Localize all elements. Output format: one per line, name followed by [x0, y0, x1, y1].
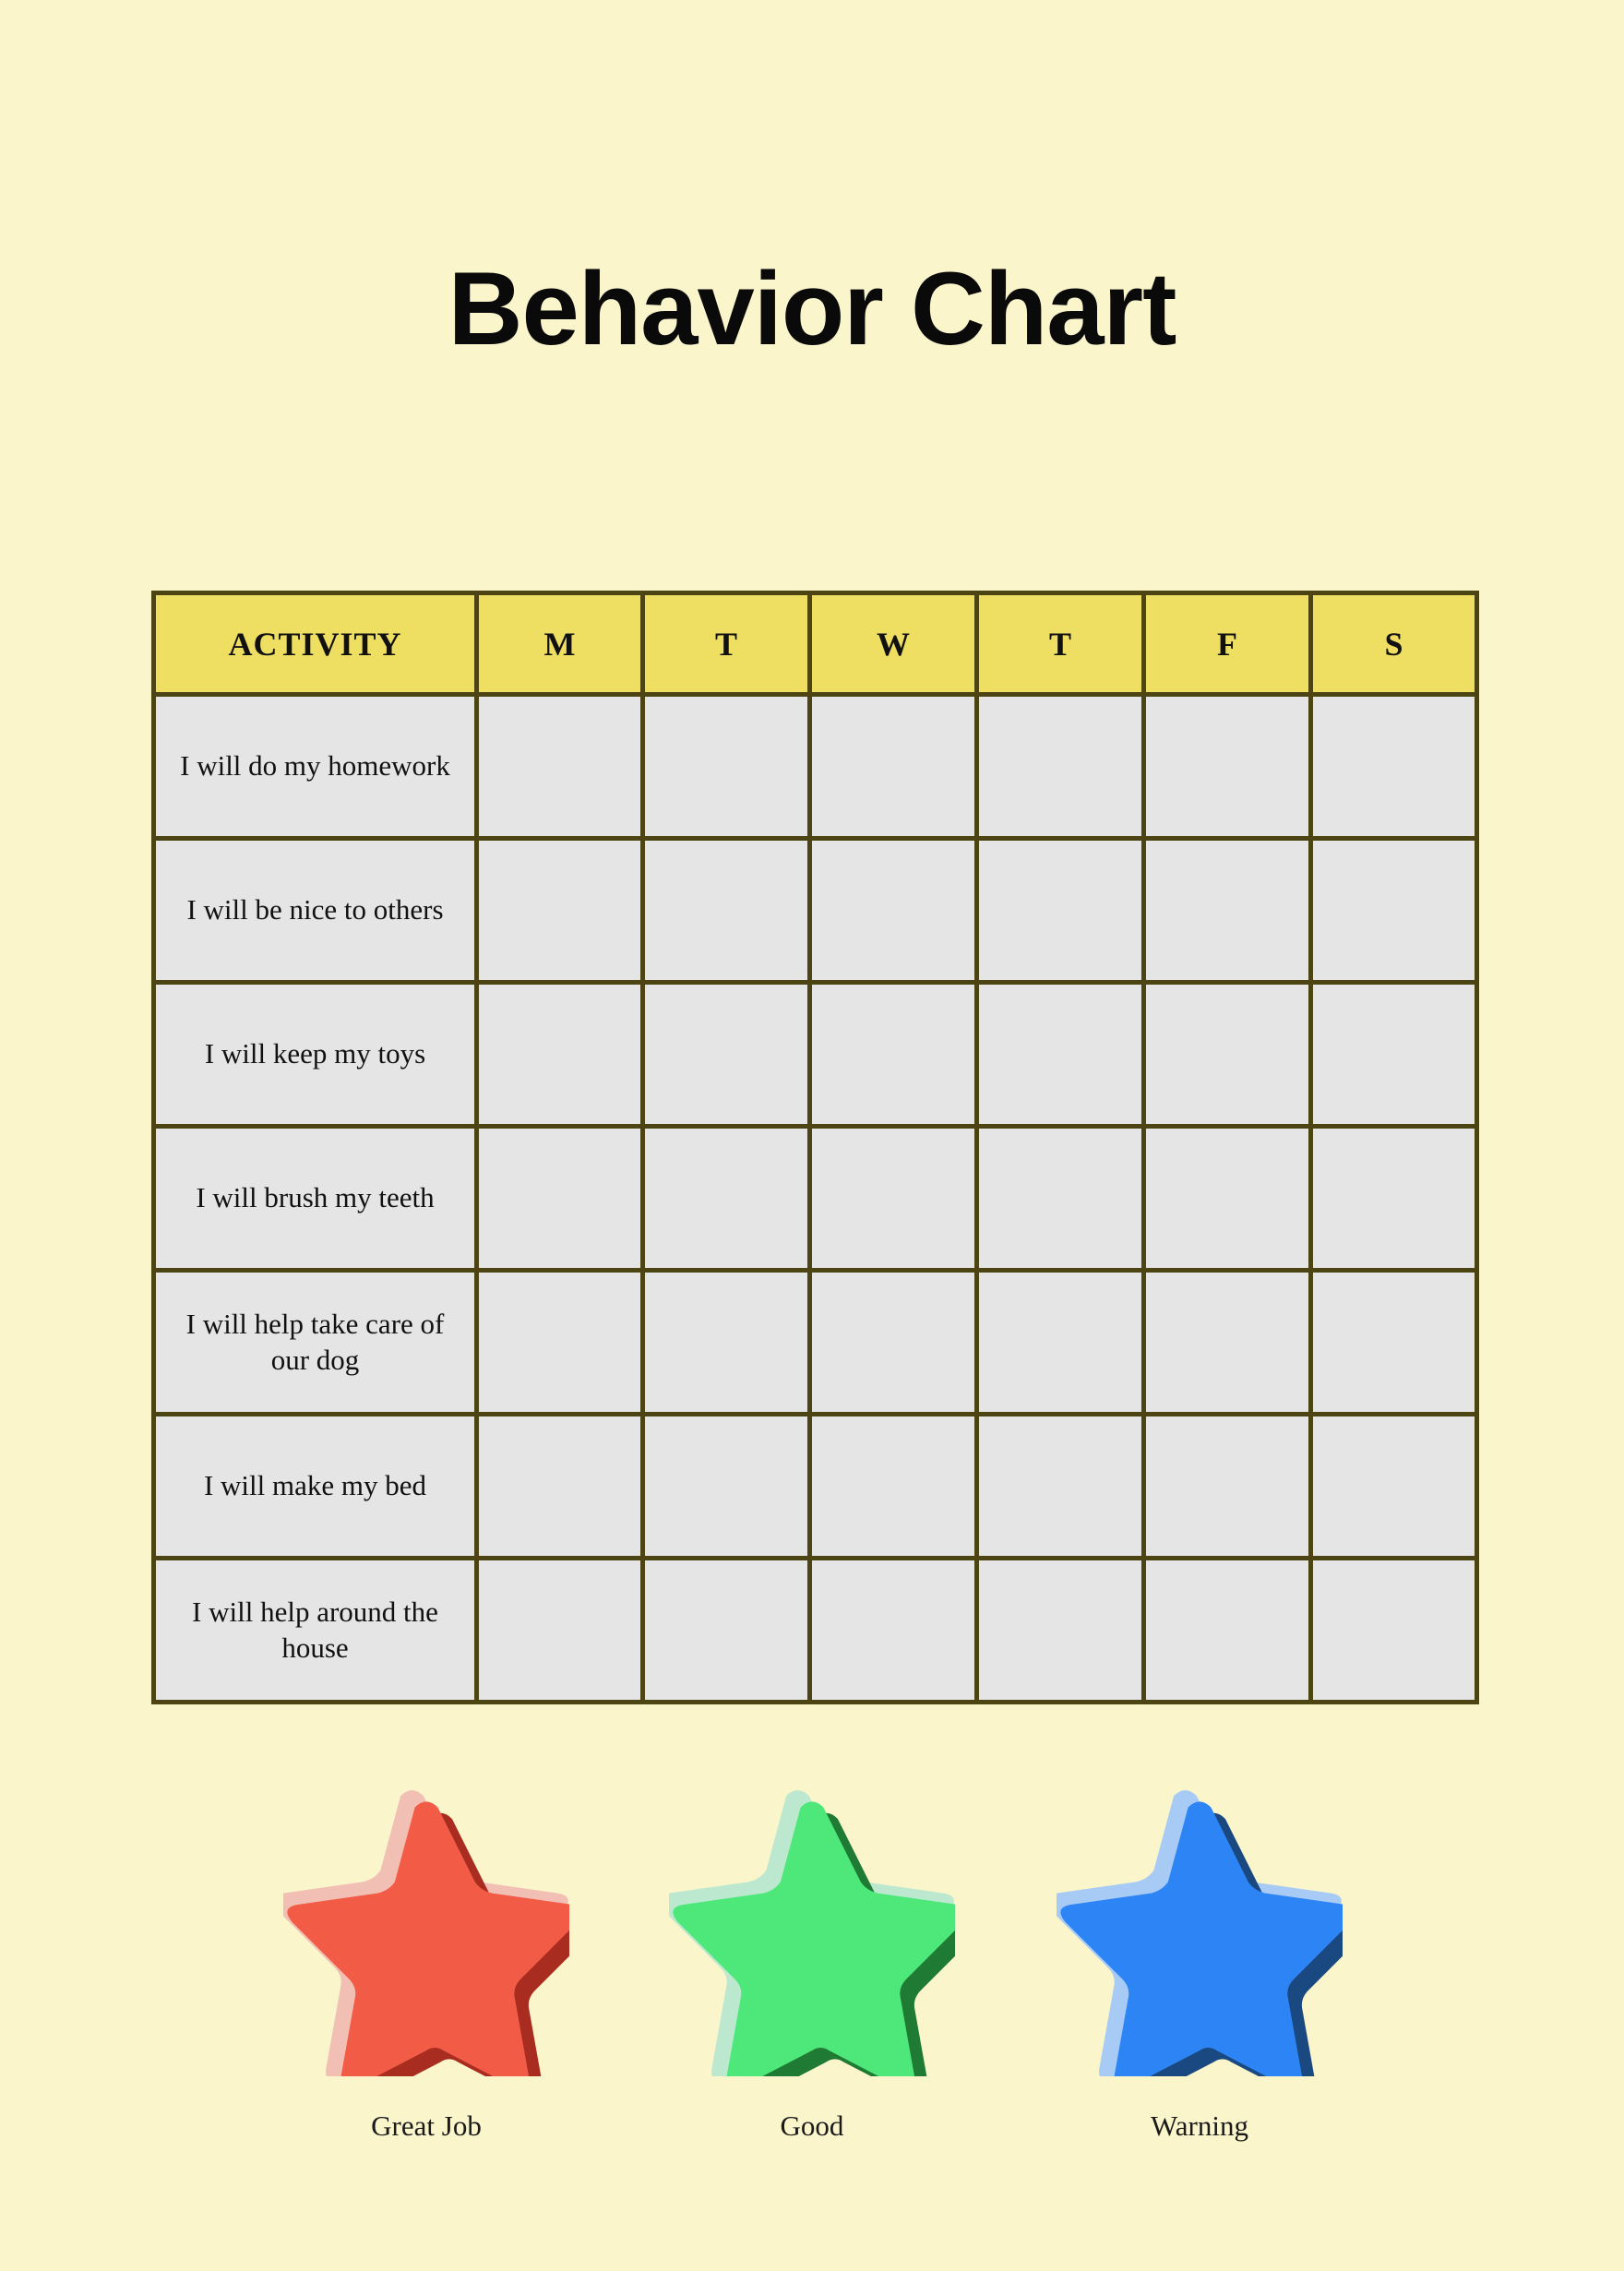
mark-cell-tue[interactable] [643, 695, 810, 839]
mark-cell-wed[interactable] [810, 1415, 977, 1559]
mark-cell-wed[interactable] [810, 983, 977, 1127]
mark-cell-thu[interactable] [977, 1271, 1144, 1415]
mark-cell-mon[interactable] [477, 695, 643, 839]
star-icon-good [669, 1790, 955, 2076]
table-row: I will keep my toys [154, 983, 1477, 1127]
table-body: I will do my homework I will be nice to … [154, 695, 1477, 1703]
activity-label: I will help around the house [154, 1559, 477, 1703]
mark-cell-wed[interactable] [810, 839, 977, 983]
legend-label-great-job: Great Job [283, 2110, 569, 2143]
star-icon-great-job [283, 1790, 569, 2076]
activity-label: I will do my homework [154, 695, 477, 839]
star-icon [283, 1790, 569, 2076]
column-header-sat: S [1311, 593, 1477, 695]
table-row: I will do my homework [154, 695, 1477, 839]
mark-cell-thu[interactable] [977, 1559, 1144, 1703]
mark-cell-wed[interactable] [810, 1271, 977, 1415]
star-icon [1057, 1790, 1343, 2076]
mark-cell-tue[interactable] [643, 1415, 810, 1559]
mark-cell-tue[interactable] [643, 983, 810, 1127]
mark-cell-thu[interactable] [977, 983, 1144, 1127]
mark-cell-thu[interactable] [977, 1415, 1144, 1559]
mark-cell-fri[interactable] [1144, 1415, 1311, 1559]
mark-cell-mon[interactable] [477, 983, 643, 1127]
mark-cell-sat[interactable] [1311, 983, 1477, 1127]
column-header-activity: ACTIVITY [154, 593, 477, 695]
legend-item-great-job: Great Job [283, 1790, 569, 2143]
mark-cell-tue[interactable] [643, 1271, 810, 1415]
mark-cell-thu[interactable] [977, 695, 1144, 839]
mark-cell-sat[interactable] [1311, 1559, 1477, 1703]
legend-item-warning: Warning [1057, 1790, 1343, 2143]
star-icon-warning [1057, 1790, 1343, 2076]
mark-cell-sat[interactable] [1311, 1271, 1477, 1415]
star-icon [669, 1790, 955, 2076]
mark-cell-thu[interactable] [977, 1127, 1144, 1271]
mark-cell-tue[interactable] [643, 1559, 810, 1703]
mark-cell-fri[interactable] [1144, 695, 1311, 839]
mark-cell-fri[interactable] [1144, 839, 1311, 983]
mark-cell-fri[interactable] [1144, 1271, 1311, 1415]
mark-cell-sat[interactable] [1311, 839, 1477, 983]
activity-label: I will keep my toys [154, 983, 477, 1127]
table-header: ACTIVITY M T W T F S [154, 593, 1477, 695]
mark-cell-mon[interactable] [477, 839, 643, 983]
legend-label-good: Good [669, 2110, 955, 2143]
table-header-row: ACTIVITY M T W T F S [154, 593, 1477, 695]
activity-label: I will make my bed [154, 1415, 477, 1559]
mark-cell-thu[interactable] [977, 839, 1144, 983]
legend-item-good: Good [669, 1790, 955, 2143]
mark-cell-tue[interactable] [643, 1127, 810, 1271]
mark-cell-mon[interactable] [477, 1127, 643, 1271]
table-row: I will help take care of our dog [154, 1271, 1477, 1415]
activity-label: I will help take care of our dog [154, 1271, 477, 1415]
behavior-chart-page: Behavior Chart ACTIVITY M T W T F S I [0, 0, 1624, 2271]
mark-cell-wed[interactable] [810, 1127, 977, 1271]
mark-cell-sat[interactable] [1311, 695, 1477, 839]
mark-cell-sat[interactable] [1311, 1127, 1477, 1271]
mark-cell-wed[interactable] [810, 695, 977, 839]
mark-cell-sat[interactable] [1311, 1415, 1477, 1559]
table-row: I will make my bed [154, 1415, 1477, 1559]
page-title: Behavior Chart [0, 255, 1624, 364]
mark-cell-mon[interactable] [477, 1559, 643, 1703]
column-header-fri: F [1144, 593, 1311, 695]
legend: Great Job Good Warning [151, 1790, 1475, 2178]
legend-label-warning: Warning [1057, 2110, 1343, 2143]
column-header-wed: W [810, 593, 977, 695]
column-header-mon: M [477, 593, 643, 695]
table-row: I will be nice to others [154, 839, 1477, 983]
mark-cell-fri[interactable] [1144, 983, 1311, 1127]
column-header-tue: T [643, 593, 810, 695]
activity-label: I will brush my teeth [154, 1127, 477, 1271]
mark-cell-mon[interactable] [477, 1415, 643, 1559]
mark-cell-mon[interactable] [477, 1271, 643, 1415]
column-header-thu: T [977, 593, 1144, 695]
behavior-table: ACTIVITY M T W T F S I will do my homewo… [151, 591, 1479, 1704]
mark-cell-fri[interactable] [1144, 1559, 1311, 1703]
table-row: I will brush my teeth [154, 1127, 1477, 1271]
mark-cell-tue[interactable] [643, 839, 810, 983]
mark-cell-fri[interactable] [1144, 1127, 1311, 1271]
activity-label: I will be nice to others [154, 839, 477, 983]
mark-cell-wed[interactable] [810, 1559, 977, 1703]
table-row: I will help around the house [154, 1559, 1477, 1703]
